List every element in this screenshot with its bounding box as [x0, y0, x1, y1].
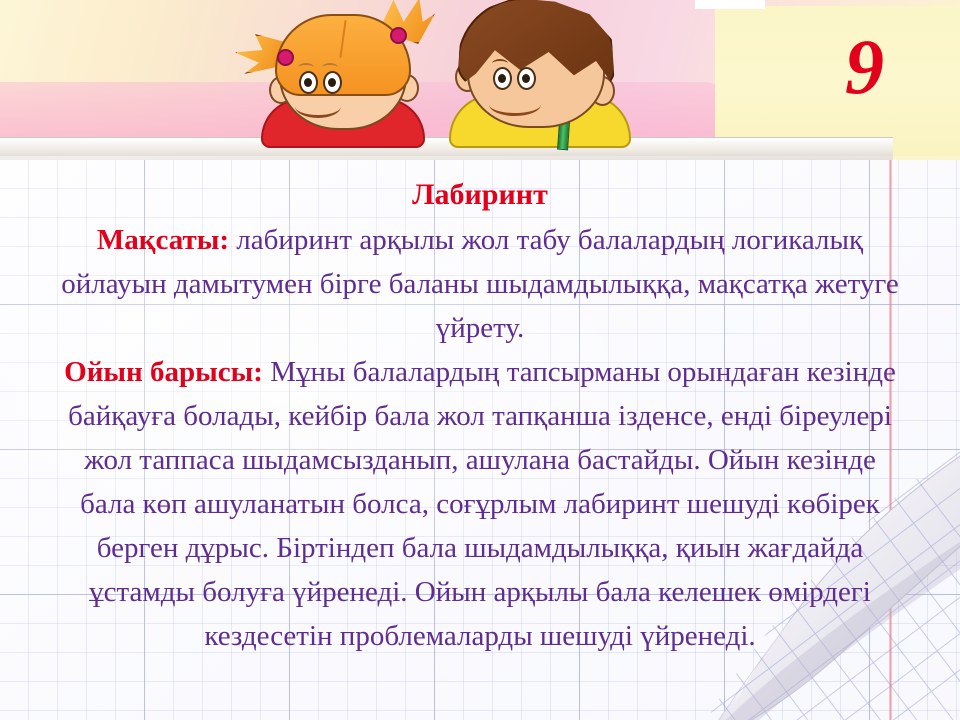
page-number: 9 — [845, 28, 884, 106]
girl-hair-tie-left — [277, 49, 294, 66]
girl-eye-right — [323, 71, 342, 94]
girl-hair — [275, 14, 411, 96]
page-title: Лабиринт — [58, 172, 902, 218]
boy-eye-right — [517, 67, 536, 90]
girl-hair-tie-right — [390, 27, 407, 44]
girl-smile — [295, 95, 341, 118]
girl-eye-left — [299, 71, 318, 94]
header-white-notch — [695, 0, 765, 9]
paragraph-process-text: Мұны балалардың тапсырманы орындаған кез… — [68, 356, 896, 652]
paragraph-process: Ойын барысы: Мұны балалардың тапсырманы … — [58, 350, 902, 658]
slide-text-block: Лабиринт Мақсаты: лабиринт арқылы жол та… — [58, 172, 902, 658]
paragraph-goal-label: Мақсаты: — [97, 224, 229, 256]
children-illustration — [243, 0, 663, 160]
slide-canvas: 9 Лабиринт Мақсаты: лабиринт арқылы жол … — [0, 0, 960, 720]
paragraph-goal: Мақсаты: лабиринт арқылы жол табу балала… — [58, 218, 902, 350]
header-banner: 9 — [0, 0, 960, 160]
girl-character — [253, 0, 433, 148]
boy-character — [439, 0, 639, 148]
boy-smile — [489, 93, 541, 116]
boy-eye-left — [493, 67, 512, 90]
header-bottom-strip — [0, 156, 960, 160]
paragraph-process-label: Ойын барысы: — [64, 356, 263, 388]
